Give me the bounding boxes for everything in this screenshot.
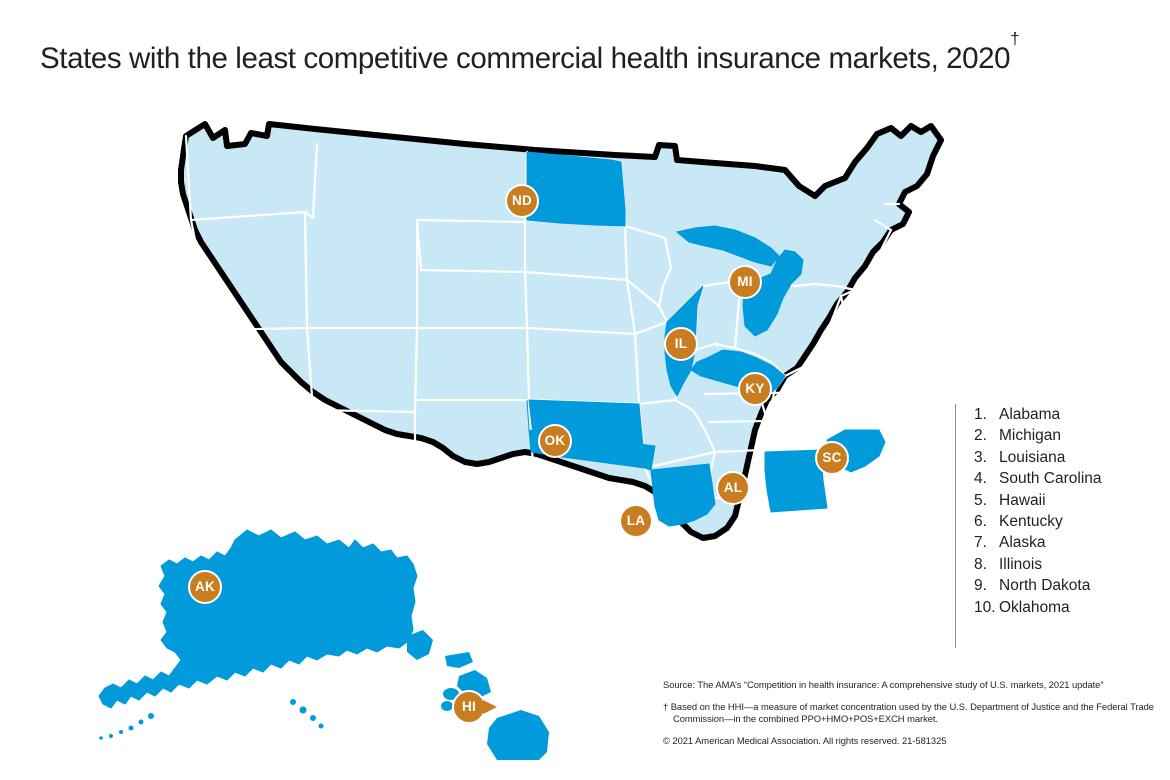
footnote-source: Source: The AMA’s “Competition in health… [663, 679, 1163, 692]
border-nc-sc [831, 392, 879, 430]
badge-sc[interactable]: SC [815, 441, 849, 475]
alaska-panhandle-island [290, 699, 296, 705]
legend-item-4-label: South Carolina [999, 468, 1102, 489]
border-ca-az [211, 350, 285, 520]
legend-item-2-label: Michigan [999, 425, 1061, 446]
aleutian-island [129, 726, 134, 731]
badge-sc-label: SC [822, 451, 841, 465]
badge-al[interactable]: AL [716, 471, 750, 505]
badge-il-label: IL [675, 337, 687, 351]
legend-item-9-number: 9. [974, 575, 999, 596]
legend-item-9-label: North Dakota [999, 575, 1090, 596]
legend-item-8-number: 8. [974, 554, 999, 575]
alaska-aleutian-islands [99, 699, 323, 740]
badge-ak[interactable]: AK [188, 570, 222, 604]
badge-mi[interactable]: MI [728, 265, 762, 299]
legend-item-8-label: Illinois [999, 554, 1042, 575]
legend-item-4-number: 4. [974, 468, 999, 489]
legend-item-3-number: 3. [974, 447, 999, 468]
badge-ok-label: OK [545, 434, 566, 448]
alaska-panhandle-island [319, 724, 324, 729]
badge-ky[interactable]: KY [738, 372, 772, 406]
badge-nd[interactable]: ND [505, 184, 539, 218]
badge-ky-label: KY [745, 382, 764, 396]
legend-item-2-number: 2. [974, 425, 999, 446]
legend-item-10[interactable]: 10.Oklahoma [974, 597, 1102, 618]
legend-item-4[interactable]: 4.South Carolina [974, 468, 1102, 489]
legend-item-6-label: Kentucky [999, 511, 1063, 532]
footnote-copyright: © 2021 American Medical Association. All… [663, 735, 1163, 748]
title-dagger: † [1010, 29, 1019, 48]
badge-la-label: LA [627, 514, 645, 528]
legend-item-7-number: 7. [974, 532, 999, 553]
border-nc-va [831, 350, 855, 392]
legend-item-1-number: 1. [974, 404, 999, 425]
legend-item-6-number: 6. [974, 511, 999, 532]
legend-item-6[interactable]: 6.Kentucky [974, 511, 1102, 532]
border-ct-ri [895, 264, 911, 266]
badge-la[interactable]: LA [619, 504, 653, 538]
border-ma-n [879, 246, 917, 254]
hawaii-big-island [487, 710, 549, 760]
footnote-dagger: † Based on the HHI—a measure of market c… [663, 701, 1163, 726]
legend-item-1[interactable]: 1.Alabama [974, 404, 1102, 425]
footnotes: Source: The AMA’s “Competition in health… [663, 679, 1163, 747]
page-title-text: States with the least competitive commer… [40, 42, 1010, 75]
badge-ok[interactable]: OK [538, 424, 572, 458]
hawaii-molokai [445, 652, 473, 668]
badge-hi[interactable]: HI [452, 690, 486, 724]
legend-item-3[interactable]: 3.Louisiana [974, 447, 1102, 468]
legend-item-10-label: Oklahoma [999, 597, 1070, 618]
legend-item-5[interactable]: 5.Hawaii [974, 490, 1102, 511]
us-map: ND MI IL KY OK SC AL LA AK HI [55, 100, 955, 760]
page-title: States with the least competitive commer… [40, 42, 1019, 76]
infographic-page: States with the least competitive commer… [0, 0, 1170, 780]
state-north-dakota [527, 152, 625, 226]
legend-item-3-label: Louisiana [999, 447, 1065, 468]
legend-item-7-label: Alaska [999, 532, 1046, 553]
border-nj [855, 290, 869, 320]
aleutian-island [109, 734, 113, 738]
legend-item-5-label: Hawaii [999, 490, 1046, 511]
badge-al-label: AL [724, 481, 742, 495]
badge-il[interactable]: IL [664, 327, 698, 361]
legend: 1.Alabama 2.Michigan 3.Louisiana 4.South… [955, 404, 1102, 648]
legend-item-9[interactable]: 9.North Dakota [974, 575, 1102, 596]
aleutian-island [99, 736, 103, 740]
aleutian-island [119, 730, 123, 734]
aleutian-island [148, 713, 154, 719]
legend-item-1-label: Alabama [999, 404, 1060, 425]
badge-nd-label: ND [512, 194, 532, 208]
aleutian-island [139, 720, 144, 725]
legend-item-8[interactable]: 8.Illinois [974, 554, 1102, 575]
alaska-panhandle-island [300, 707, 307, 714]
legend-list: 1.Alabama 2.Michigan 3.Louisiana 4.South… [974, 404, 1102, 618]
border-or-ca [197, 250, 211, 350]
legend-item-2[interactable]: 2.Michigan [974, 425, 1102, 446]
alaska-panhandle-island [310, 715, 316, 721]
legend-item-7[interactable]: 7.Alaska [974, 532, 1102, 553]
legend-item-5-number: 5. [974, 490, 999, 511]
legend-item-10-number: 10. [974, 597, 999, 618]
badge-ak-label: AK [195, 580, 215, 594]
border-ga-fl [835, 500, 875, 610]
badge-mi-label: MI [737, 275, 752, 289]
badge-hi-label: HI [462, 700, 476, 714]
